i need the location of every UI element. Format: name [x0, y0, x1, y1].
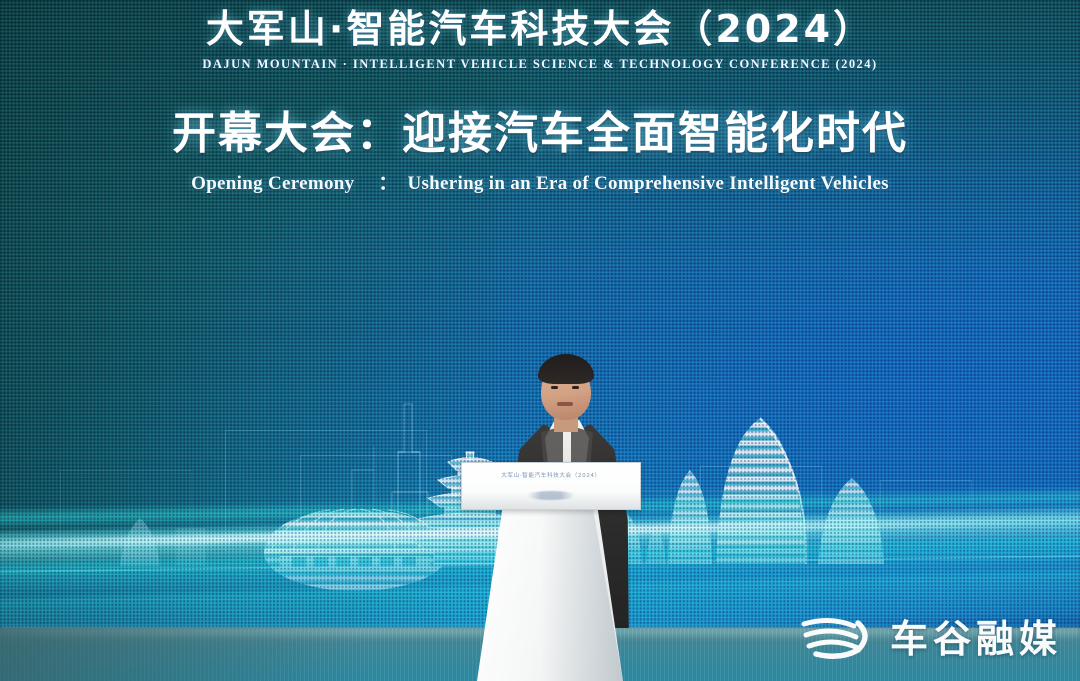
session-title-en-label: Opening Ceremony: [191, 173, 368, 195]
speaker-eye-left: [551, 386, 558, 389]
watermark-brand: 车谷融媒: [890, 608, 1062, 663]
conference-title-en: DAJUN MOUNTAIN · INTELLIGENT VEHICLE SCI…: [0, 57, 1080, 72]
podium: 大军山·智能汽车科技大会（2024）: [455, 462, 645, 681]
podium-sign-text: 大军山·智能汽车科技大会（2024）: [462, 471, 640, 479]
podium-emblem: [527, 491, 575, 500]
session-title-en-colon: ：: [378, 168, 397, 195]
speaker-eye-right: [572, 386, 579, 389]
backdrop-subtitle-block: 开幕大会：迎接汽车全面智能化时代 Opening Ceremony ： Ushe…: [0, 108, 1080, 195]
backdrop-title-block: 大军山·智能汽车科技大会（2024） DAJUN MOUNTAIN · INTE…: [0, 8, 1080, 72]
podium-shading: [541, 502, 623, 681]
podium-sign-panel: 大军山·智能汽车科技大会（2024）: [461, 462, 641, 510]
wave-swoosh-icon: [800, 610, 878, 662]
speaker-hair: [538, 354, 594, 384]
watermark: 车谷融媒: [800, 608, 1062, 663]
speaker-mouth: [557, 402, 573, 406]
conference-title-cn: 大军山·智能汽车科技大会（2024）: [0, 8, 1080, 52]
conference-stage-photo: 大军山·智能汽车科技大会（2024） DAJUN MOUNTAIN · INTE…: [0, 0, 1080, 681]
session-title-cn: 开幕大会：迎接汽车全面智能化时代: [0, 108, 1080, 160]
stage-floor-shading: [0, 628, 367, 681]
session-title-en-text: Ushering in an Era of Comprehensive Inte…: [407, 173, 888, 195]
session-title-en-row: Opening Ceremony ： Ushering in an Era of…: [0, 168, 1080, 195]
